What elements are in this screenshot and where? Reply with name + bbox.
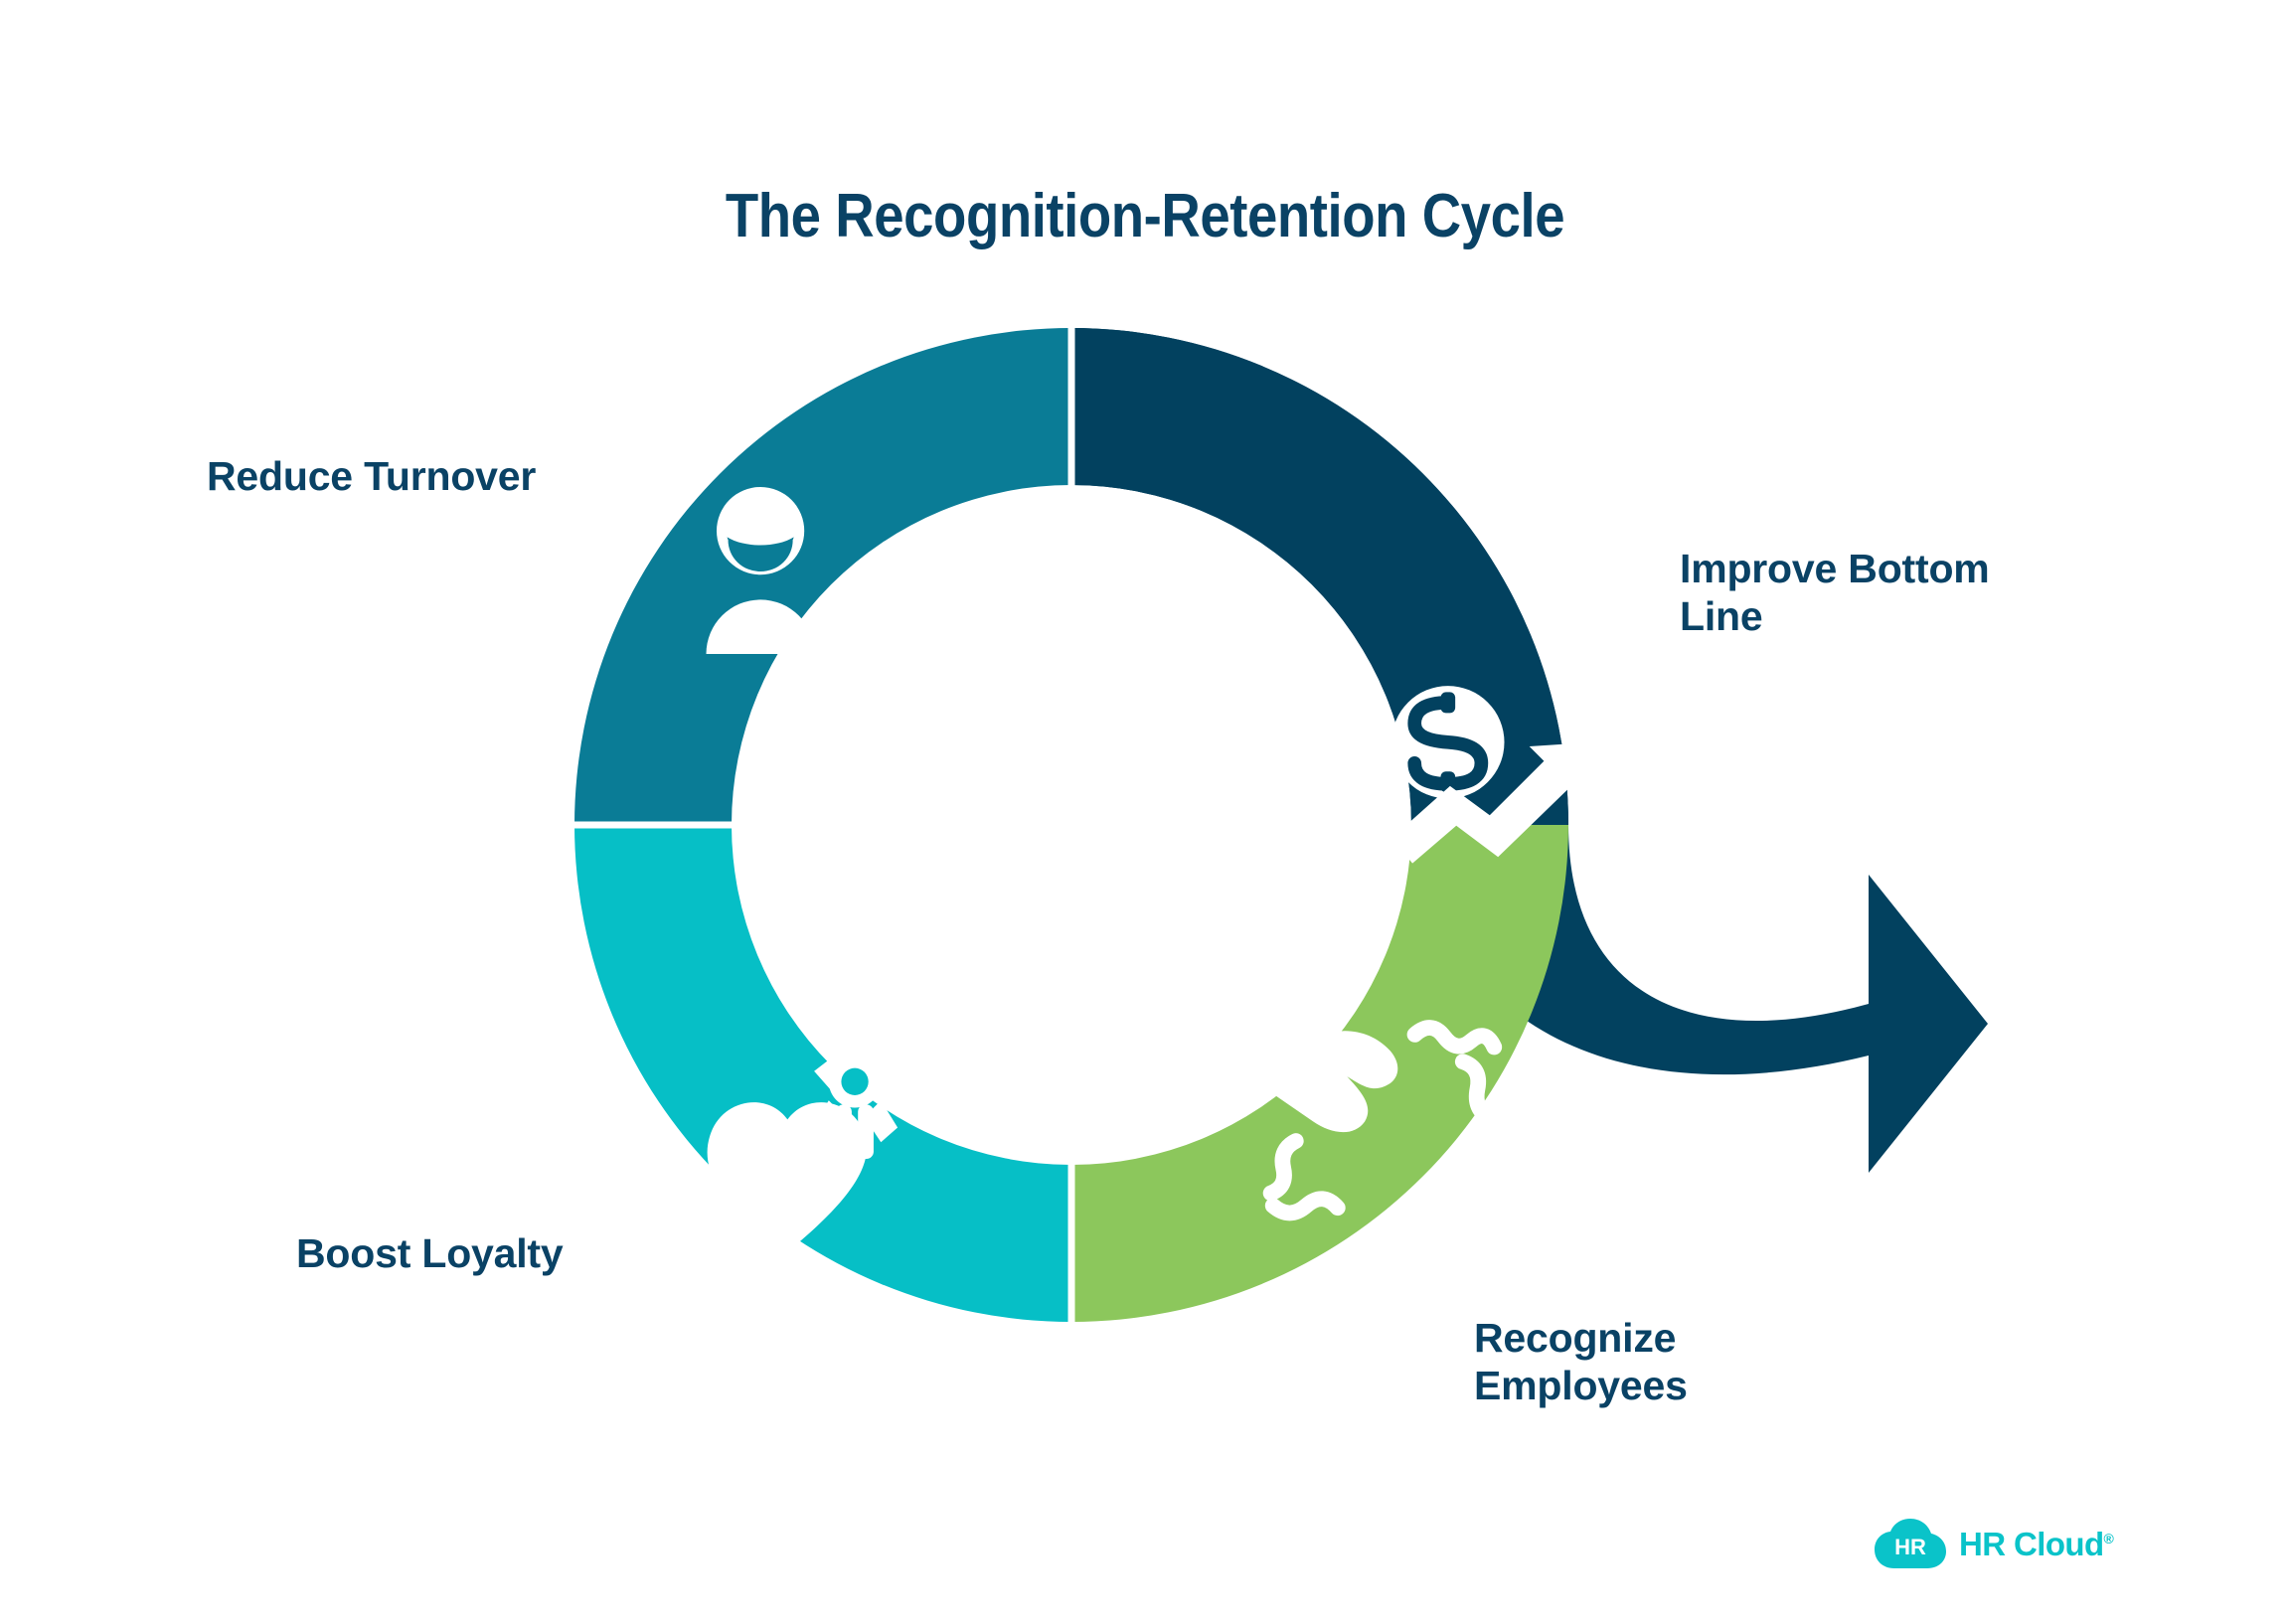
recognition-retention-cycle-diagram	[0, 0, 2290, 1624]
infographic-canvas: The Recognition-Retention Cycle	[0, 0, 2290, 1624]
cloud-mark-text: HR	[1894, 1535, 1926, 1559]
hr-cloud-logo: HR HR Cloud®	[1875, 1519, 2113, 1570]
brand-wordmark: HR Cloud®	[1959, 1526, 2113, 1563]
brand-wordmark-text: HR Cloud	[1959, 1526, 2104, 1562]
segment-label-improve-bottom-line: Improve Bottom Line	[1680, 545, 2047, 641]
registered-mark: ®	[2104, 1531, 2114, 1546]
cloud-icon: HR	[1875, 1519, 1946, 1570]
segment-label-boost-loyalty: Boost Loyalty	[296, 1229, 564, 1277]
segment-label-recognize-employees: Recognize Employees	[1474, 1314, 1792, 1410]
segment-label-reduce-turnover: Reduce Turnover	[207, 452, 536, 500]
segment-reduce-turnover[interactable]	[574, 328, 1071, 825]
